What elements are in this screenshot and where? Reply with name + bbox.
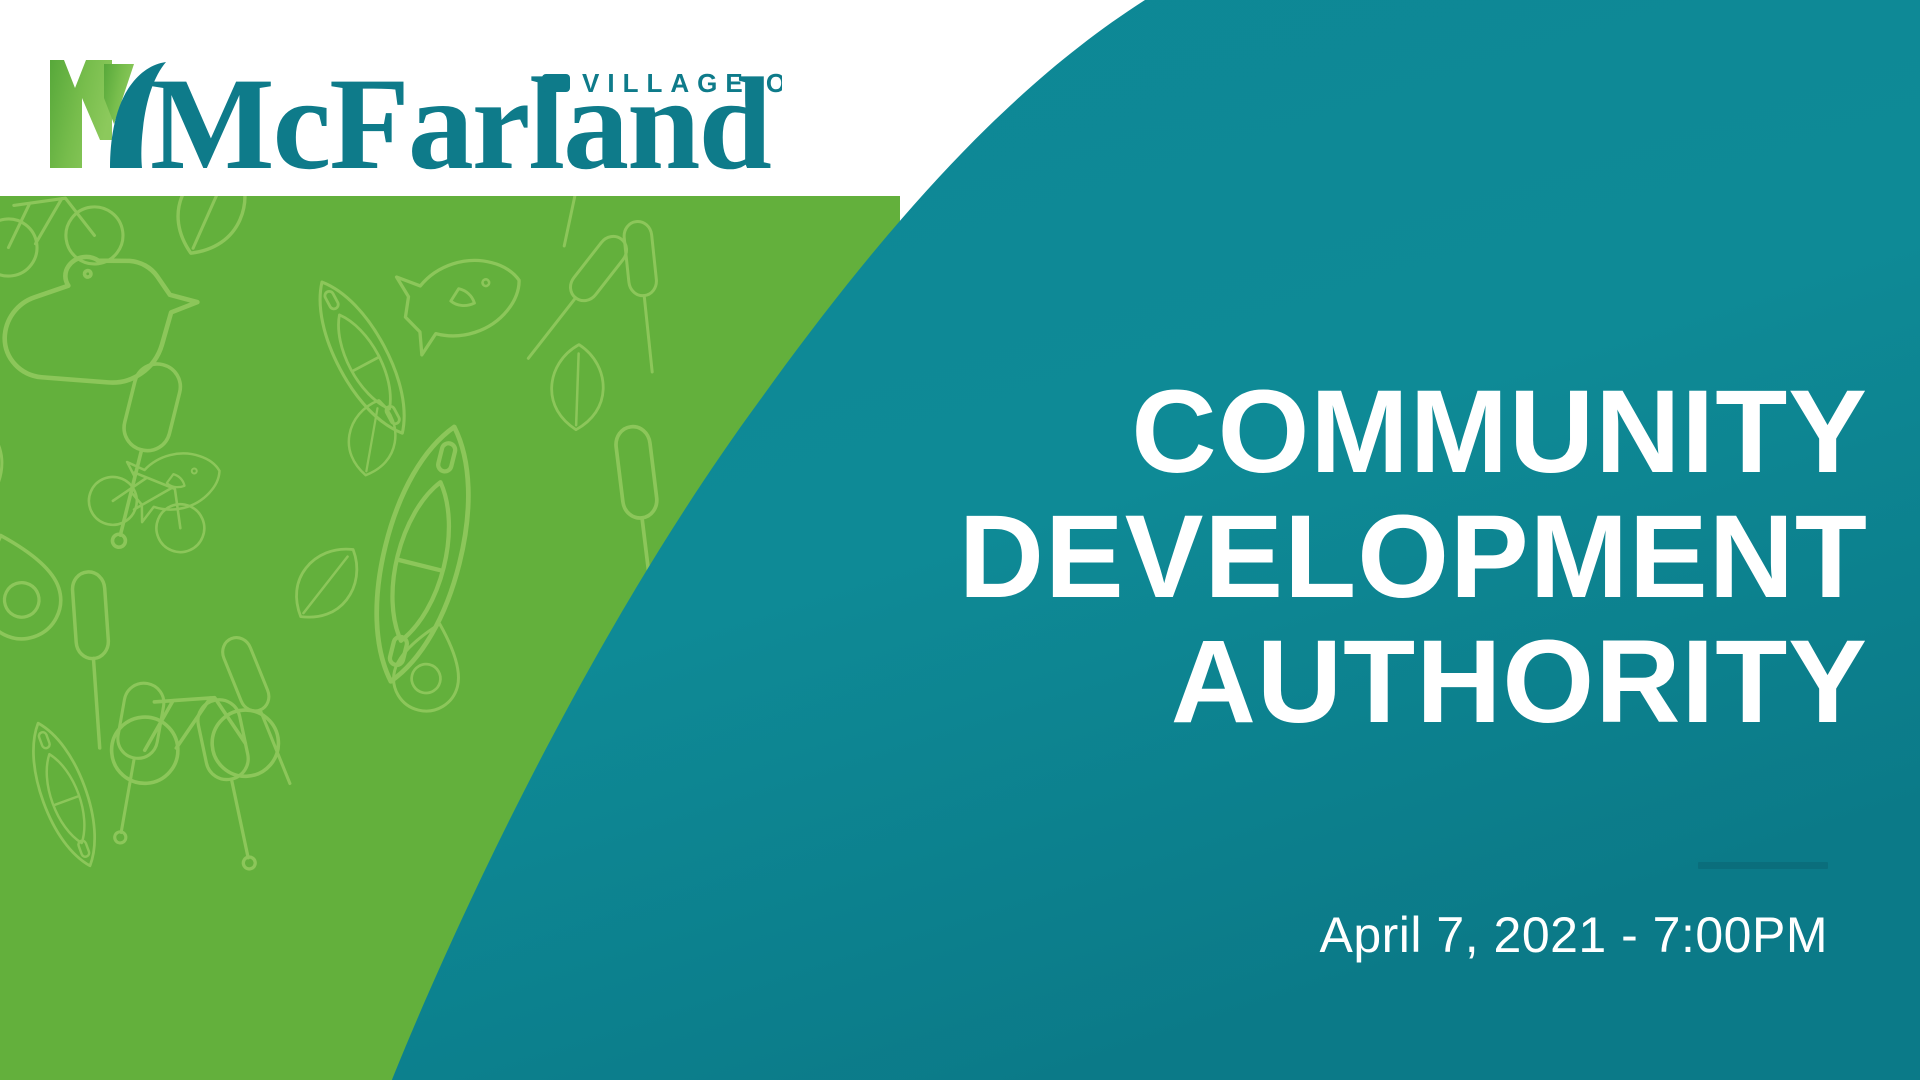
title-line-1: COMMUNITY bbox=[748, 370, 1868, 495]
logo-eyebrow-bar bbox=[542, 74, 570, 92]
logo-eyebrow-text: VILLAGE OF bbox=[582, 68, 782, 98]
event-datetime: April 7, 2021 - 7:00PM bbox=[1320, 908, 1829, 963]
banner-title: COMMUNITY DEVELOPMENT AUTHORITY bbox=[748, 370, 1868, 745]
title-line-3: AUTHORITY bbox=[748, 620, 1868, 745]
event-banner: McFarland VILLAGE OF COMMUNITY DEVELOPME… bbox=[0, 0, 1920, 1080]
village-logo[interactable]: McFarland VILLAGE OF bbox=[42, 28, 782, 178]
title-line-2: DEVELOPMENT bbox=[748, 495, 1868, 620]
title-divider bbox=[1698, 862, 1828, 869]
logo-svg: McFarland VILLAGE OF bbox=[42, 28, 782, 178]
